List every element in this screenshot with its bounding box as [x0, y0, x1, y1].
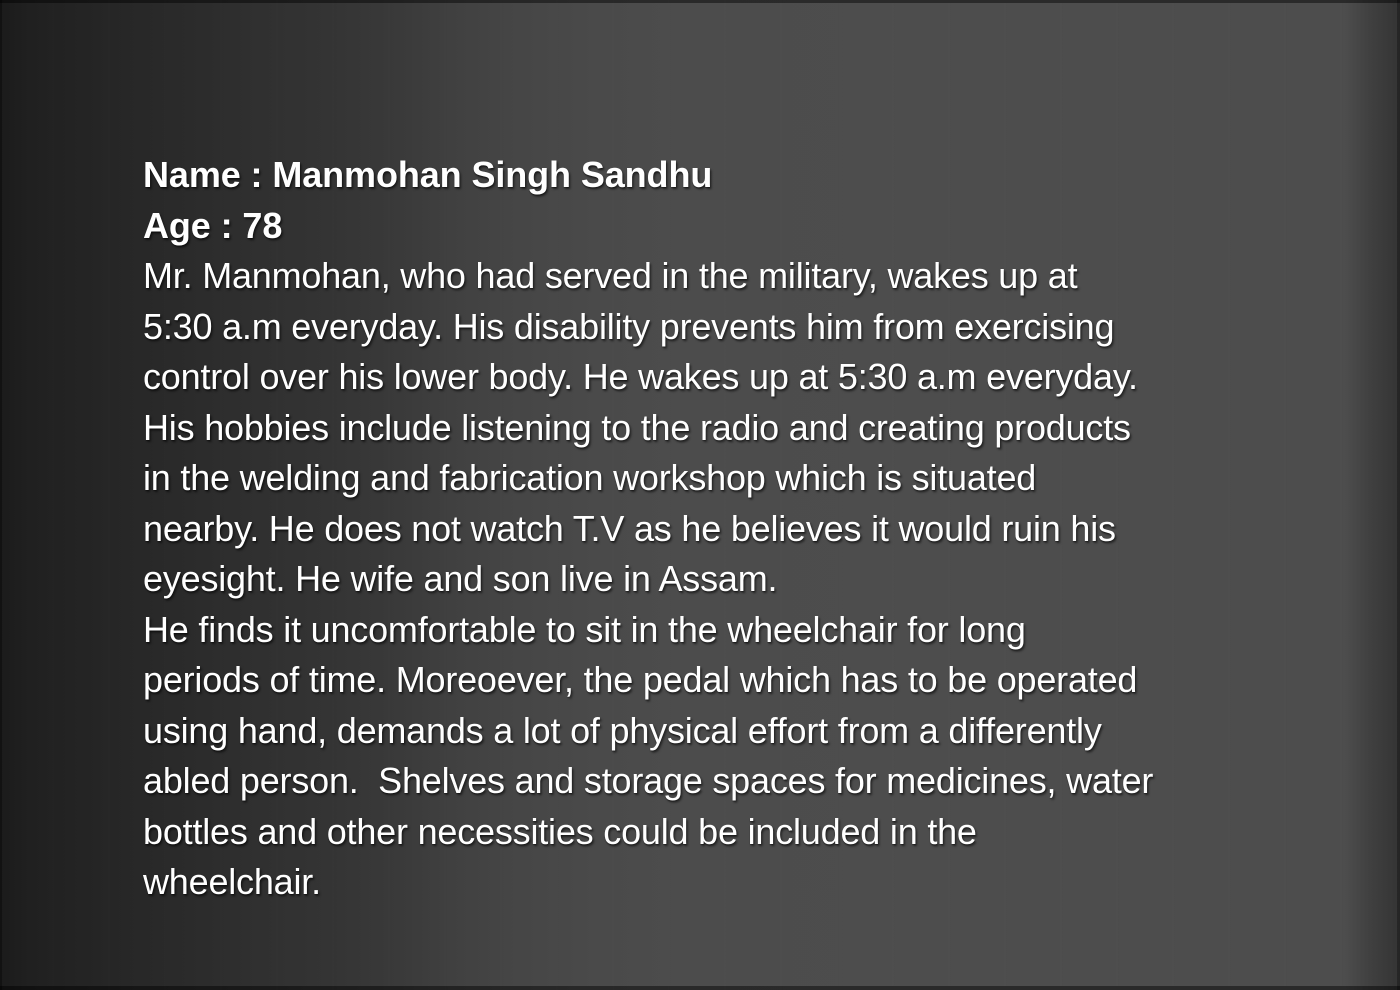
persona-slide: Name : Manmohan Singh Sandhu Age : 78 Mr… — [0, 0, 1400, 990]
body-line-9: periods of time. Moreoever, the pedal wh… — [143, 655, 1323, 706]
persona-text-block: Name : Manmohan Singh Sandhu Age : 78 Mr… — [143, 150, 1323, 908]
body-line-13: wheelchair. — [143, 857, 1323, 908]
persona-name-line: Name : Manmohan Singh Sandhu — [143, 150, 1323, 201]
persona-age-line: Age : 78 — [143, 201, 1323, 252]
body-line-2: 5:30 a.m everyday. His disability preven… — [143, 302, 1323, 353]
body-line-1: Mr. Manmohan, who had served in the mili… — [143, 251, 1323, 302]
body-line-7: eyesight. He wife and son live in Assam. — [143, 554, 1323, 605]
body-line-8: He finds it uncomfortable to sit in the … — [143, 605, 1323, 656]
body-line-4: His hobbies include listening to the rad… — [143, 403, 1323, 454]
body-line-11: abled person. Shelves and storage spaces… — [143, 756, 1323, 807]
body-line-12: bottles and other necessities could be i… — [143, 807, 1323, 858]
body-line-3: control over his lower body. He wakes up… — [143, 352, 1323, 403]
body-line-5: in the welding and fabrication workshop … — [143, 453, 1323, 504]
slide-edge-top — [0, 0, 1400, 3]
slide-edge-left — [0, 0, 2, 990]
body-line-6: nearby. He does not watch T.V as he beli… — [143, 504, 1323, 555]
slide-edge-bottom — [0, 986, 1400, 990]
body-line-10: using hand, demands a lot of physical ef… — [143, 706, 1323, 757]
